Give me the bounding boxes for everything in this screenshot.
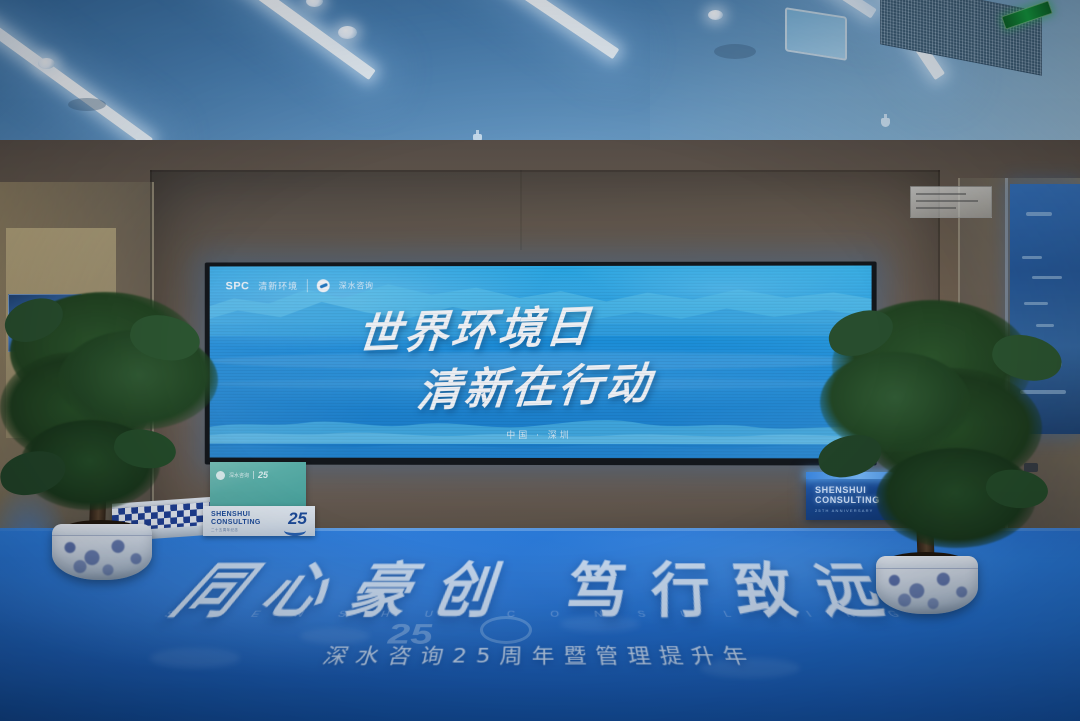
recessed-downlight xyxy=(338,26,357,39)
signage-graphic xyxy=(1020,390,1066,394)
recessed-downlight xyxy=(38,58,55,69)
signage-graphic xyxy=(1036,324,1054,327)
plate-line xyxy=(916,200,978,202)
podium-left-anniversary-cn: 二十五周年纪念 xyxy=(211,528,238,533)
screen-brand-bar: SPC 清新环境 深水咨询 xyxy=(226,279,374,292)
podium-left-base: SHENSHUI CONSULTING 二十五周年纪念 25 xyxy=(203,506,315,536)
floor-subline-text: 深水咨询25周年暨管理提升年 xyxy=(0,640,1080,669)
logo-divider xyxy=(307,279,308,292)
circle-swoosh-icon xyxy=(317,279,330,292)
plate-line xyxy=(916,193,966,195)
led-screen-content: SPC 清新环境 深水咨询 世界环境日 清新在行动 中国 · 深圳 xyxy=(210,266,872,459)
recessed-downlight xyxy=(708,10,723,20)
signage-graphic xyxy=(1024,302,1048,305)
signage-graphic xyxy=(1032,276,1062,279)
podium-left-logo-mark xyxy=(216,471,225,480)
screen-title-block: 世界环境日 清新在行动 xyxy=(359,290,840,413)
smoke-detector-icon xyxy=(714,44,756,59)
signage-graphic xyxy=(1026,212,1052,216)
planter-rim xyxy=(52,524,152,536)
podium-left-upper-brand: 深水咨询 25 xyxy=(216,470,300,480)
logo-spc-abbr: SPC xyxy=(226,280,250,292)
wall-seam xyxy=(150,170,940,172)
podium-left-base-line-2: CONSULTING xyxy=(211,519,261,527)
podium-left-top-badge: 25 xyxy=(258,470,268,480)
podium-right-brand: SHENSHUI CONSULTING xyxy=(815,485,880,505)
podium-left-base-brand: SHENSHUI CONSULTING xyxy=(211,511,261,527)
podium-left-swoosh-icon xyxy=(284,525,306,536)
linear-led-strip xyxy=(381,0,620,59)
door-info-plate xyxy=(910,186,992,218)
logo-spc-chinese: 清新环境 xyxy=(258,279,298,292)
wall-seam xyxy=(520,170,522,250)
porcelain-planter xyxy=(876,556,978,614)
signage-graphic xyxy=(1022,256,1042,259)
podium-right-anniversary-text: 25TH ANNIVERSARY xyxy=(815,508,873,513)
smoke-detector-icon xyxy=(68,98,106,111)
podium-right-line-2: CONSULTING xyxy=(815,495,880,505)
podium-left-divider xyxy=(253,471,254,479)
podium-right-line-1: SHENSHUI xyxy=(815,485,880,495)
linear-led-strip xyxy=(0,15,153,147)
linear-led-strip xyxy=(134,0,376,80)
screen-location-subtitle: 中国 · 深圳 xyxy=(210,428,872,442)
planter-rim xyxy=(876,556,978,569)
podium-left-logo-text: 深水咨询 xyxy=(229,472,249,479)
led-video-wall: SPC 清新环境 深水咨询 世界环境日 清新在行动 中国 · 深圳 xyxy=(205,261,877,465)
podium-left-base-line-1: SHENSHUI xyxy=(211,511,261,519)
sprinkler-head-icon xyxy=(881,118,890,127)
screen-title-line-2: 清新在行动 xyxy=(415,341,843,420)
recessed-downlight xyxy=(306,0,323,7)
plate-line xyxy=(916,207,956,209)
event-hall-photo: SPC 清新环境 深水咨询 世界环境日 清新在行动 中国 · 深圳 同心豪创 笃… xyxy=(0,0,1080,721)
porcelain-planter xyxy=(52,524,152,580)
